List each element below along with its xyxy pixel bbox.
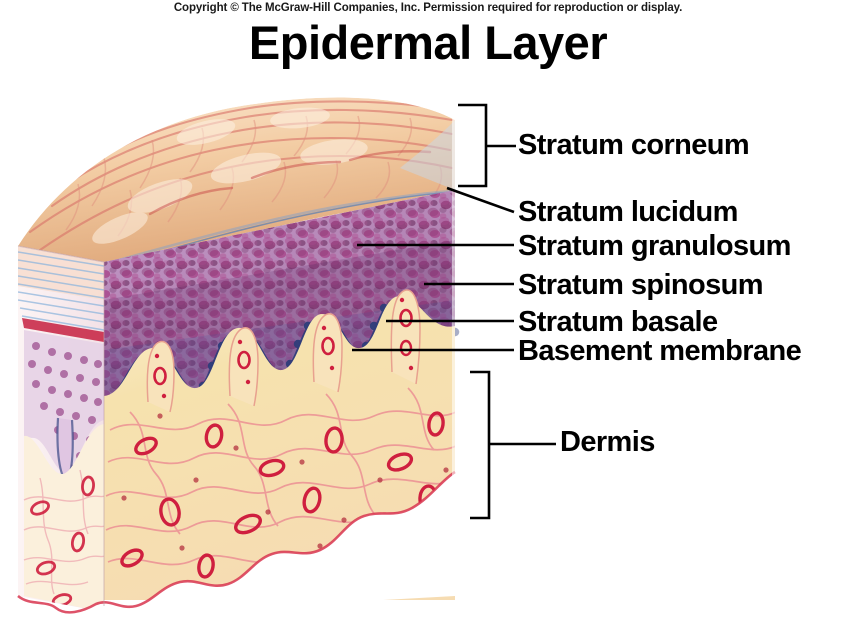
label-stratum-lucidum: Stratum lucidum	[518, 198, 738, 227]
label-stratum-granulosum: Stratum granulosum	[518, 232, 791, 261]
label-stratum-basale: Stratum basale	[518, 308, 718, 337]
label-stratum-spinosum: Stratum spinosum	[518, 271, 763, 300]
label-basement-membrane: Basement membrane	[518, 337, 801, 366]
label-stratum-corneum: Stratum corneum	[518, 131, 749, 160]
label-group: Stratum corneum Stratum lucidum Stratum …	[0, 0, 856, 642]
label-dermis: Dermis	[560, 428, 655, 457]
figure-canvas: Copyright © The McGraw-Hill Companies, I…	[0, 0, 856, 642]
